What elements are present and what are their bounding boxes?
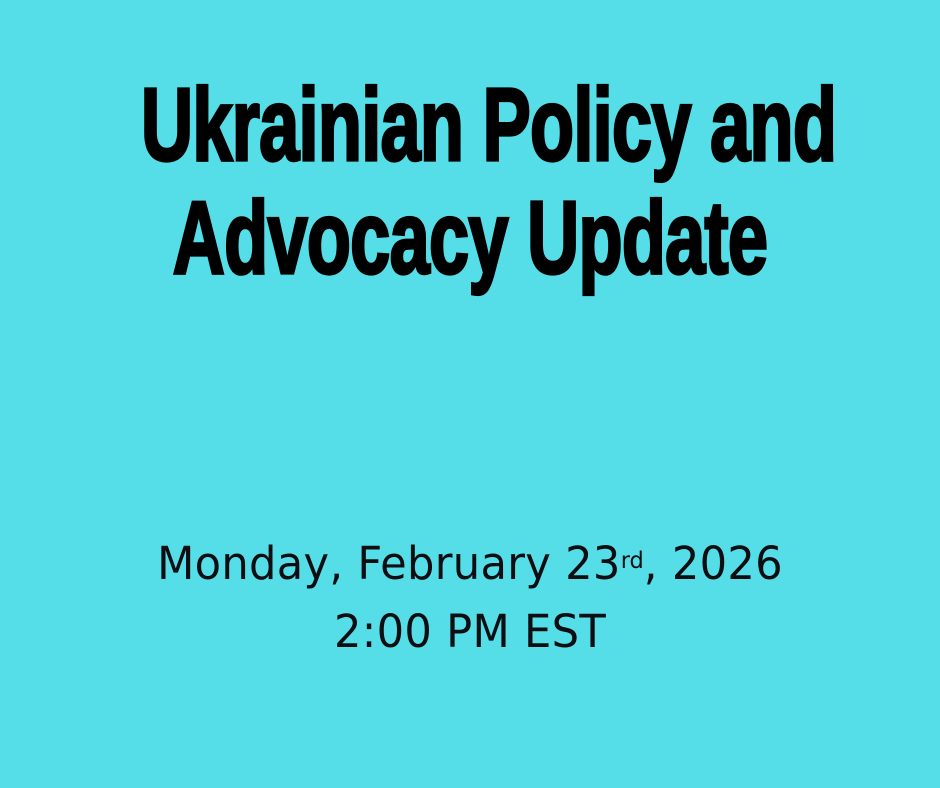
event-time: 2:00 PM EST — [19, 602, 921, 662]
ordinal-suffix: rd — [621, 546, 644, 574]
event-date-text: Monday, February 23 — [157, 537, 621, 590]
announcement-slide: Ukrainian Policy and Advocacy Update Mon… — [0, 0, 940, 788]
title-line-1: Ukrainian Policy and — [141, 68, 799, 181]
title-line-2: Advocacy Update — [141, 181, 799, 294]
event-date: Monday, February 23rd, 2026 — [19, 533, 921, 602]
event-datetime-block: Monday, February 23rd, 2026 2:00 PM EST — [0, 533, 940, 662]
title-block: Ukrainian Policy and Advocacy Update — [0, 68, 940, 294]
event-date-year: , 2026 — [644, 537, 783, 590]
